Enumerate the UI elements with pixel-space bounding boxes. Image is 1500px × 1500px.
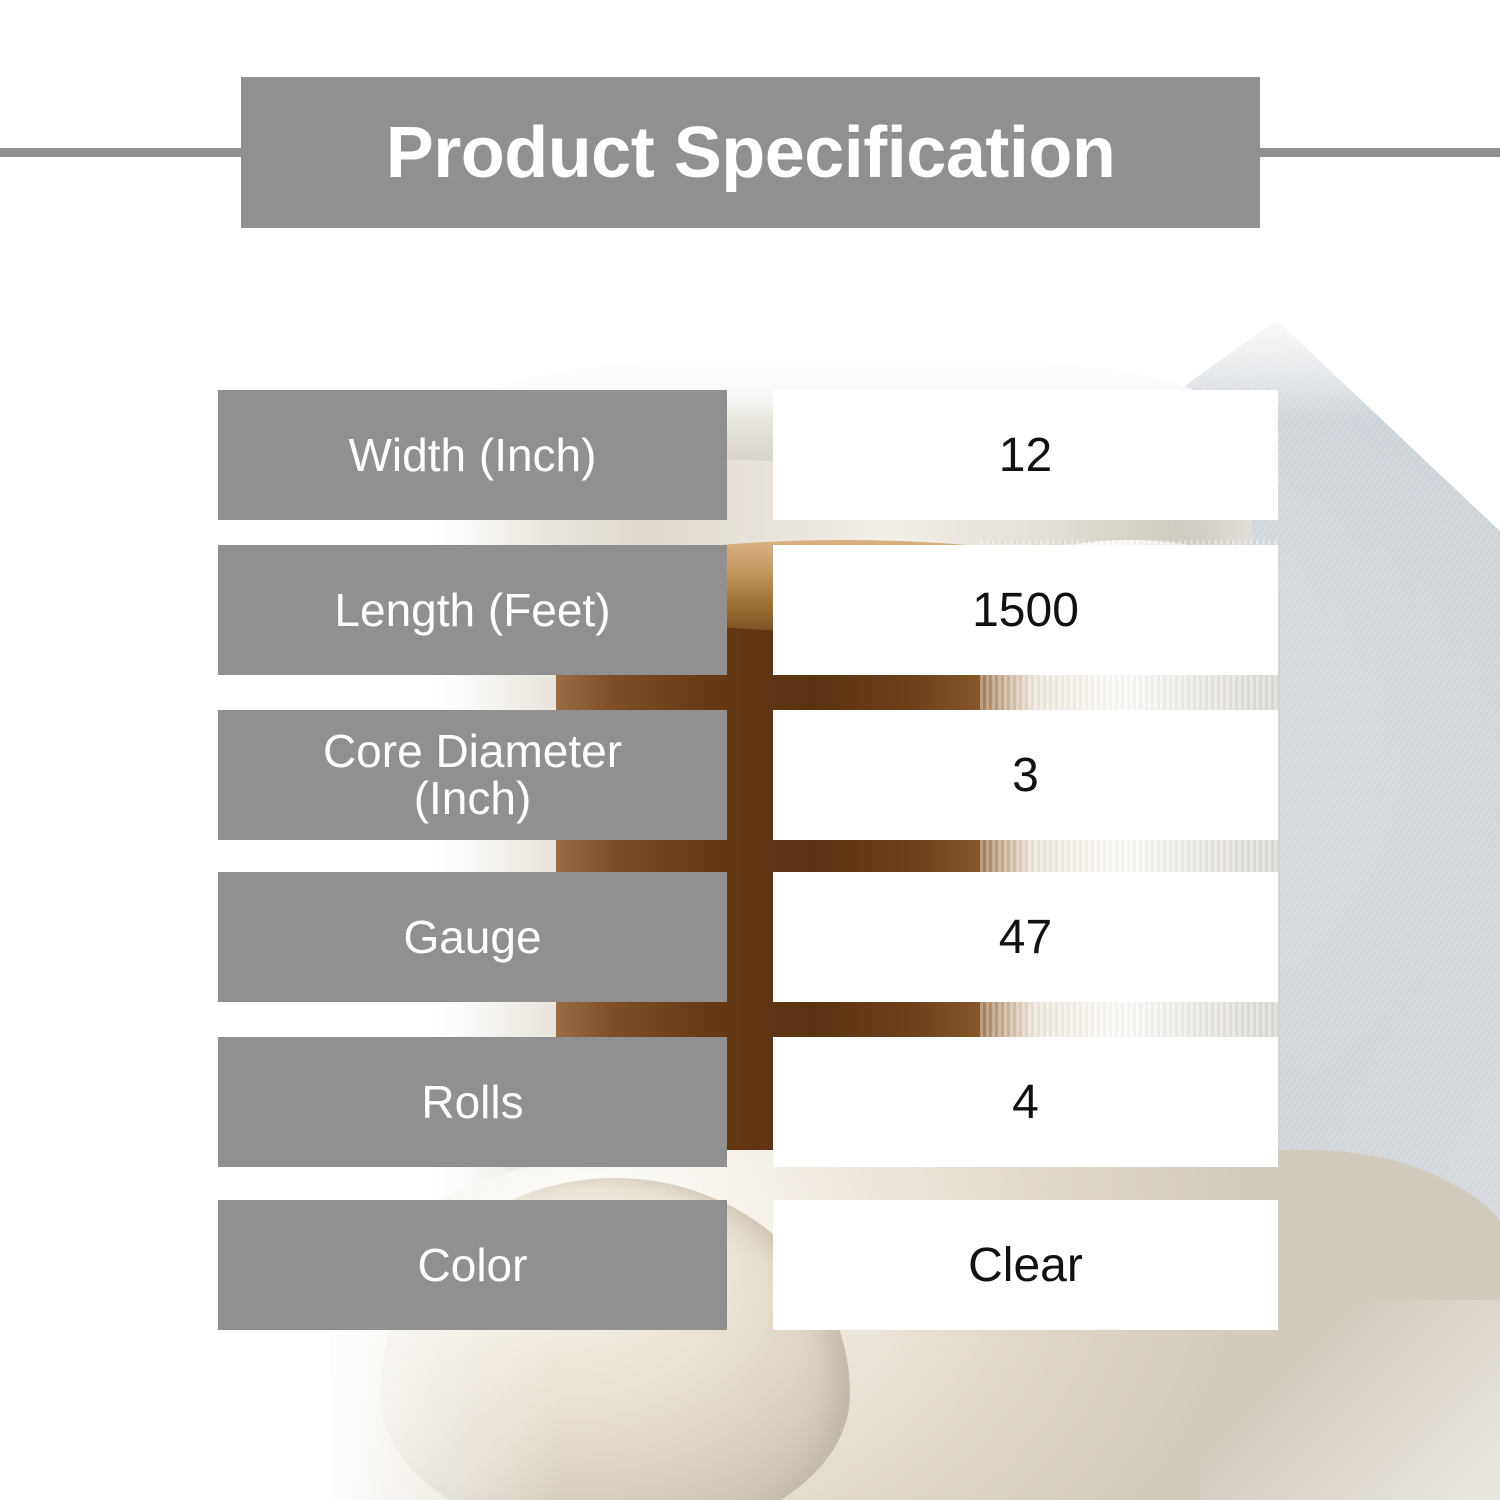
spec-value-cell: 1500 [773, 545, 1278, 675]
product-specification-infographic: Product Specification Width (Inch)12Leng… [0, 0, 1500, 1500]
spec-value-cell: 4 [773, 1037, 1278, 1167]
spec-value-cell: 3 [773, 710, 1278, 840]
specification-table: Width (Inch)12Length (Feet)1500Core Diam… [0, 0, 1500, 1500]
spec-row: Width (Inch)12 [0, 390, 1500, 520]
spec-label-cell: Length (Feet) [218, 545, 727, 675]
spec-label-cell: Gauge [218, 872, 727, 1002]
spec-value-cell: 47 [773, 872, 1278, 1002]
spec-row: Core Diameter (Inch)3 [0, 710, 1500, 840]
spec-row: ColorClear [0, 1200, 1500, 1330]
spec-value-cell: 12 [773, 390, 1278, 520]
spec-label-cell: Color [218, 1200, 727, 1330]
spec-row: Gauge47 [0, 872, 1500, 1002]
spec-label-cell: Width (Inch) [218, 390, 727, 520]
spec-value-cell: Clear [773, 1200, 1278, 1330]
spec-label-cell: Core Diameter (Inch) [218, 710, 727, 840]
spec-row: Rolls4 [0, 1037, 1500, 1167]
spec-label-cell: Rolls [218, 1037, 727, 1167]
spec-row: Length (Feet)1500 [0, 545, 1500, 675]
